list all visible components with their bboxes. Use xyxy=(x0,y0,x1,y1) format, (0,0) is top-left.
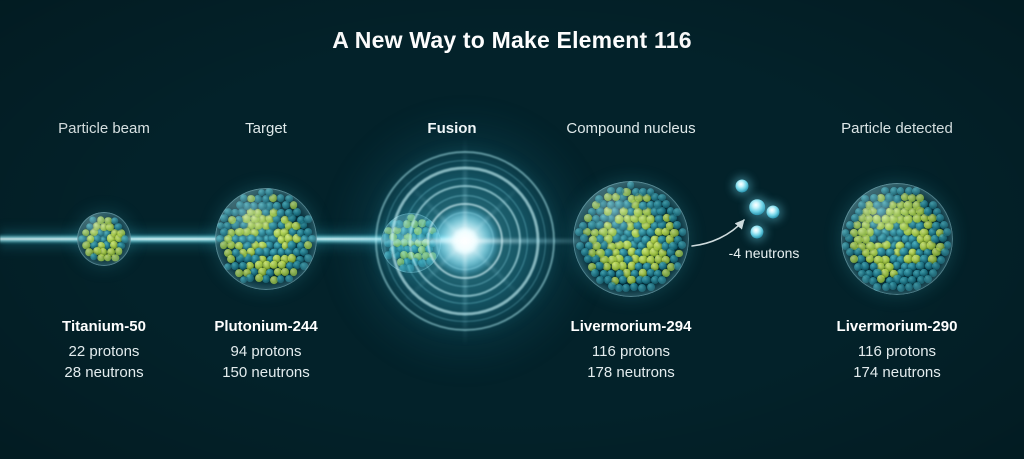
neutron xyxy=(889,282,897,290)
neutron xyxy=(591,269,599,277)
proton xyxy=(675,250,683,258)
proton xyxy=(247,195,255,203)
burst-flare-spike xyxy=(315,239,615,243)
element-name: Titanium-50 xyxy=(62,318,146,335)
neutron xyxy=(842,229,850,237)
neutron-emission-label: -4 neutrons xyxy=(729,245,800,261)
neutron xyxy=(308,235,316,243)
burst-core xyxy=(433,209,497,273)
neutron xyxy=(862,275,870,283)
neutron xyxy=(615,284,623,292)
neutron xyxy=(943,228,951,236)
neutron xyxy=(243,202,251,210)
neutron xyxy=(678,241,686,249)
caption-livermorium294: Livermorium-294116 protons178 neutrons xyxy=(571,318,692,384)
neutron xyxy=(662,201,670,209)
neutron xyxy=(913,282,921,290)
neutron xyxy=(121,236,128,243)
neutron xyxy=(282,201,290,209)
proton xyxy=(104,254,112,262)
proton xyxy=(584,214,592,222)
stage-header-compound-nucleus: Compound nucleus xyxy=(566,120,695,137)
neutron xyxy=(941,248,949,256)
proton xyxy=(112,255,119,262)
neutron xyxy=(305,255,313,263)
neutron xyxy=(647,188,655,196)
neutron xyxy=(897,284,905,292)
neutron xyxy=(616,187,624,195)
neutron xyxy=(905,284,913,292)
neutron xyxy=(622,284,630,292)
burst-flare-spike xyxy=(464,136,467,346)
emitted-neutron-1 xyxy=(736,180,749,193)
neutron xyxy=(224,263,232,271)
neutron xyxy=(265,188,273,196)
stage-header-particle-detected: Particle detected xyxy=(841,120,953,137)
neutron xyxy=(385,252,392,259)
neutron xyxy=(217,222,225,230)
stage-header-fusion: Fusion xyxy=(427,120,476,137)
neutron xyxy=(842,242,850,250)
proton xyxy=(619,207,628,216)
neutron xyxy=(90,253,97,260)
neutron xyxy=(607,187,615,195)
neutron xyxy=(870,194,878,202)
element-name: Livermorium-294 xyxy=(571,318,692,335)
neutron xyxy=(240,276,248,284)
neutron xyxy=(673,208,681,216)
neutron-count: 150 neutrons xyxy=(214,362,317,383)
neutron xyxy=(929,201,937,209)
neutron xyxy=(286,195,294,203)
caption-titanium: Titanium-5022 protons28 neutrons xyxy=(62,318,146,384)
element-name: Livermorium-290 xyxy=(837,318,958,335)
neutron xyxy=(596,276,604,284)
neutron xyxy=(647,283,655,291)
neutron xyxy=(882,283,890,291)
burst-outer-glow xyxy=(335,111,595,371)
neutron xyxy=(877,207,886,216)
proton xyxy=(646,215,655,224)
neutron xyxy=(114,223,122,231)
neutron xyxy=(300,262,308,270)
neutron-count: 28 neutrons xyxy=(62,362,146,383)
neutron xyxy=(231,209,239,217)
infographic-canvas: A New Way to Make Element 116 Particle b… xyxy=(0,0,1024,459)
neutron xyxy=(385,240,393,248)
stage-header-beam: Particle beam xyxy=(58,120,150,137)
caption-livermorium290: Livermorium-290116 protons174 neutrons xyxy=(837,318,958,384)
proton-count: 116 protons xyxy=(837,341,958,362)
proton-count: 22 protons xyxy=(62,341,146,362)
neutron xyxy=(429,240,437,248)
neutron xyxy=(432,232,439,239)
neutron xyxy=(897,187,905,195)
neutron xyxy=(285,275,293,283)
proton xyxy=(604,193,612,201)
neutron xyxy=(240,195,248,203)
proton xyxy=(615,215,624,224)
stage-header-target: Target xyxy=(245,120,287,137)
neutron xyxy=(846,221,854,229)
proton xyxy=(885,207,894,216)
nucleus-plutonium xyxy=(215,188,317,290)
neutron xyxy=(595,195,603,203)
neutron xyxy=(937,256,945,264)
nucleus-fusion-incoming xyxy=(381,213,441,273)
neutron xyxy=(658,276,666,284)
neutron xyxy=(575,228,583,236)
neutron xyxy=(608,282,616,290)
neutron xyxy=(658,194,666,202)
neutron xyxy=(873,283,881,291)
neutron xyxy=(277,194,285,202)
neutron xyxy=(293,208,301,216)
neutron xyxy=(396,220,404,228)
neutron xyxy=(305,215,313,223)
neutron-count: 174 neutrons xyxy=(837,362,958,383)
proton xyxy=(916,194,924,202)
proton-count: 116 protons xyxy=(571,341,692,362)
proton-count: 94 protons xyxy=(214,341,317,362)
nucleus-livermorium290 xyxy=(841,183,953,295)
burst-ring-8 xyxy=(436,212,494,270)
proton xyxy=(107,223,115,231)
emitted-neutron-2 xyxy=(749,199,765,215)
proton xyxy=(97,216,105,224)
neutron xyxy=(407,264,414,271)
proton xyxy=(255,274,263,282)
neutron xyxy=(277,276,285,284)
nucleus-titanium xyxy=(77,212,131,266)
neutron xyxy=(944,241,952,249)
burst-core-hot xyxy=(452,228,478,254)
emitted-neutron-4 xyxy=(751,226,764,239)
neutron xyxy=(638,284,646,292)
neutron xyxy=(679,228,687,236)
page-title: A New Way to Make Element 116 xyxy=(0,27,1024,54)
neutron xyxy=(912,187,920,195)
proton xyxy=(873,215,882,224)
neutron xyxy=(236,201,244,209)
neutron xyxy=(418,259,426,267)
neutron xyxy=(881,187,889,195)
nucleus-livermorium294 xyxy=(573,181,689,297)
neutron xyxy=(924,275,932,283)
neutron xyxy=(400,265,407,272)
neutron xyxy=(674,262,682,270)
neutron xyxy=(627,181,635,189)
neutron xyxy=(861,195,869,203)
caption-plutonium: Plutonium-24494 protons150 neutrons xyxy=(214,318,317,384)
neutron-count: 178 neutrons xyxy=(571,362,692,383)
neutron xyxy=(576,242,584,250)
emitted-neutron-3 xyxy=(767,206,780,219)
neutron xyxy=(216,235,224,243)
neutron xyxy=(426,258,433,265)
element-name: Plutonium-244 xyxy=(214,318,317,335)
